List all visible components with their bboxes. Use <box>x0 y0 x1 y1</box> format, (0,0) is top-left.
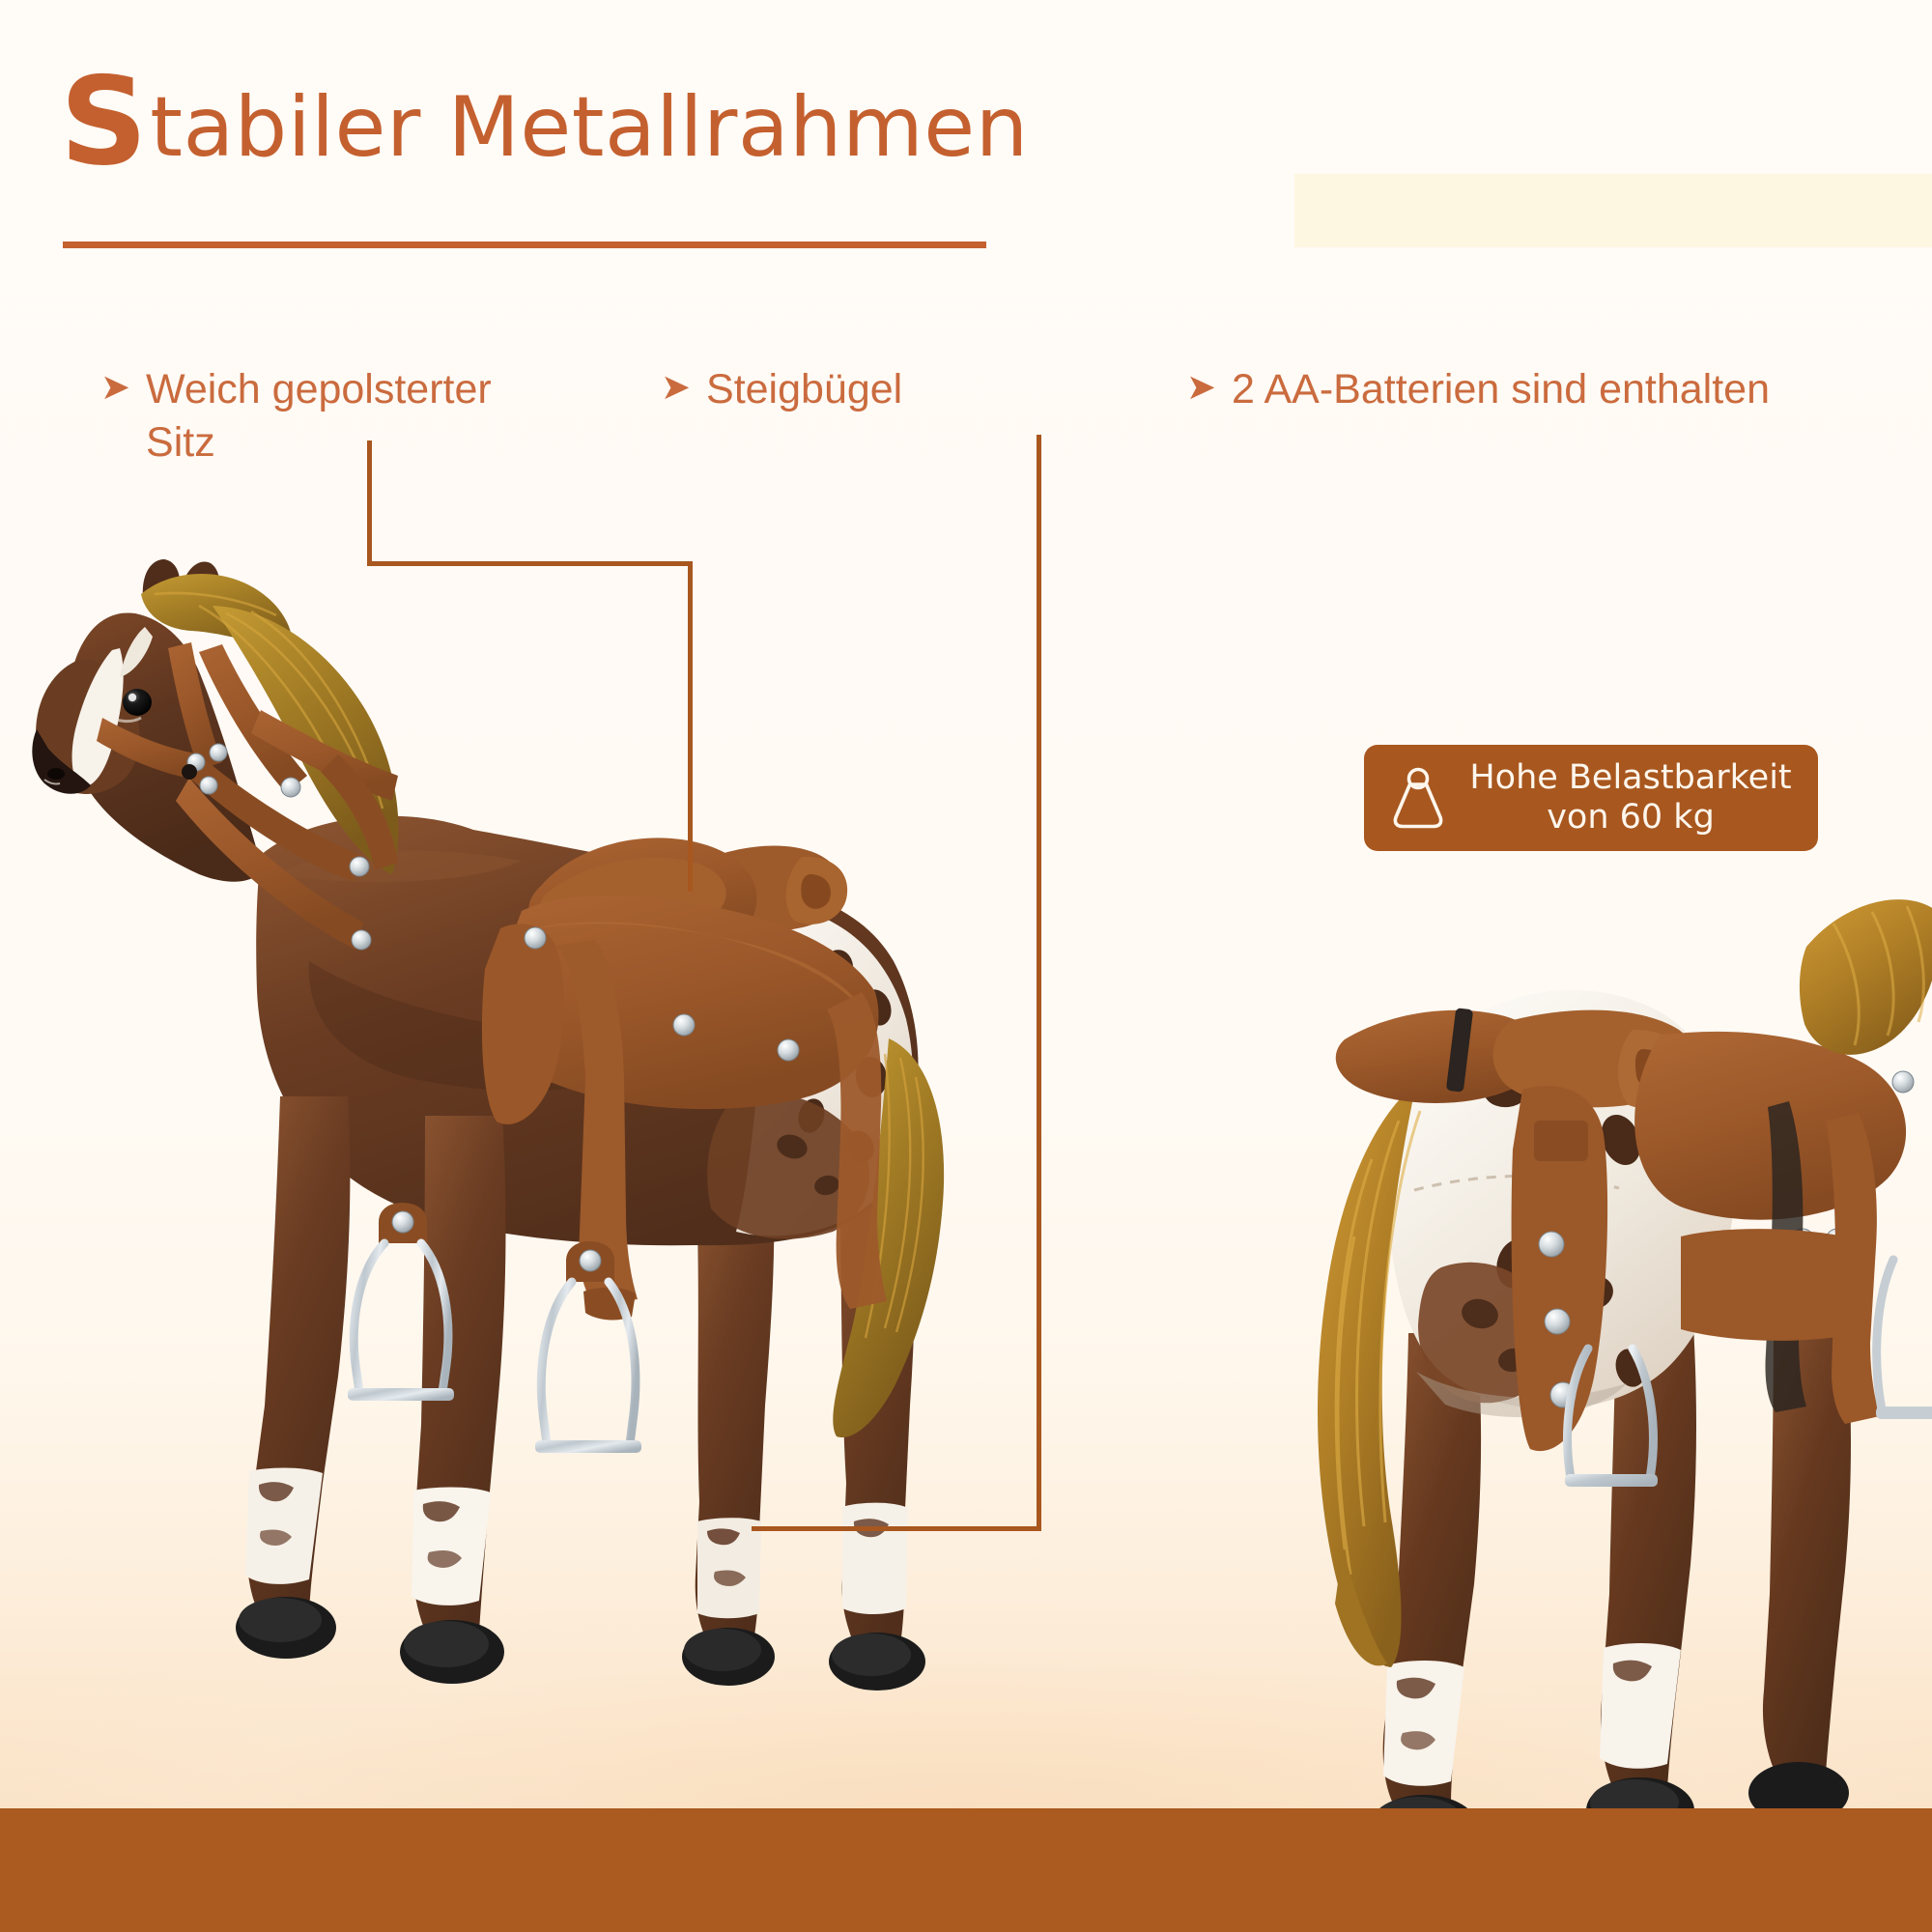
leader-line-seat-horizontal <box>367 561 693 566</box>
callout-label-batteries: 2 AA-Batterien sind enthalten <box>1232 363 1770 416</box>
load-capacity-badge: Hohe Belastbarkeit von 60 kg <box>1364 745 1818 851</box>
leader-line-seat-drop <box>688 561 693 892</box>
stirrup-rear-far <box>1874 1256 1932 1439</box>
callout-batteries: ➤ 2 AA-Batterien sind enthalten <box>1186 363 1920 416</box>
leader-line-stirrup-horizontal <box>752 1526 1041 1531</box>
arrow-bullet-icon: ➤ <box>100 363 130 405</box>
stirrup-rear-right <box>1565 1343 1777 1507</box>
leader-line-stirrup-vertical <box>1037 435 1041 1531</box>
footer-bar <box>0 1808 1932 1932</box>
load-capacity-text: Hohe Belastbarkeit von 60 kg <box>1468 758 1793 837</box>
title-initial: S <box>60 50 150 192</box>
saddle <box>482 838 887 1320</box>
title-rest: tabiler Metallrahmen <box>150 79 1028 176</box>
hind-legs <box>682 1174 775 1686</box>
weight-icon <box>1389 767 1447 829</box>
arrow-bullet-icon: ➤ <box>661 363 691 405</box>
ride-on-horse-side-view <box>19 555 1159 1729</box>
mane-rear <box>1800 899 1932 1055</box>
page-title: Stabiler Metallrahmen <box>60 79 1029 176</box>
product-infographic: Stabiler Metallrahmen ➤ Weich gepolstert… <box>0 0 1932 1932</box>
title-underline <box>63 241 986 248</box>
callout-label-stirrup: Steigbügel <box>706 363 902 416</box>
callout-label-padded-seat: Weich gepolsterter Sitz <box>146 363 492 469</box>
callout-padded-seat: ➤ Weich gepolsterter Sitz <box>100 363 554 469</box>
arrow-bullet-icon: ➤ <box>1186 363 1216 405</box>
top-accent-band <box>1294 174 1932 247</box>
callout-stirrup: ➤ Steigbügel <box>661 363 951 416</box>
